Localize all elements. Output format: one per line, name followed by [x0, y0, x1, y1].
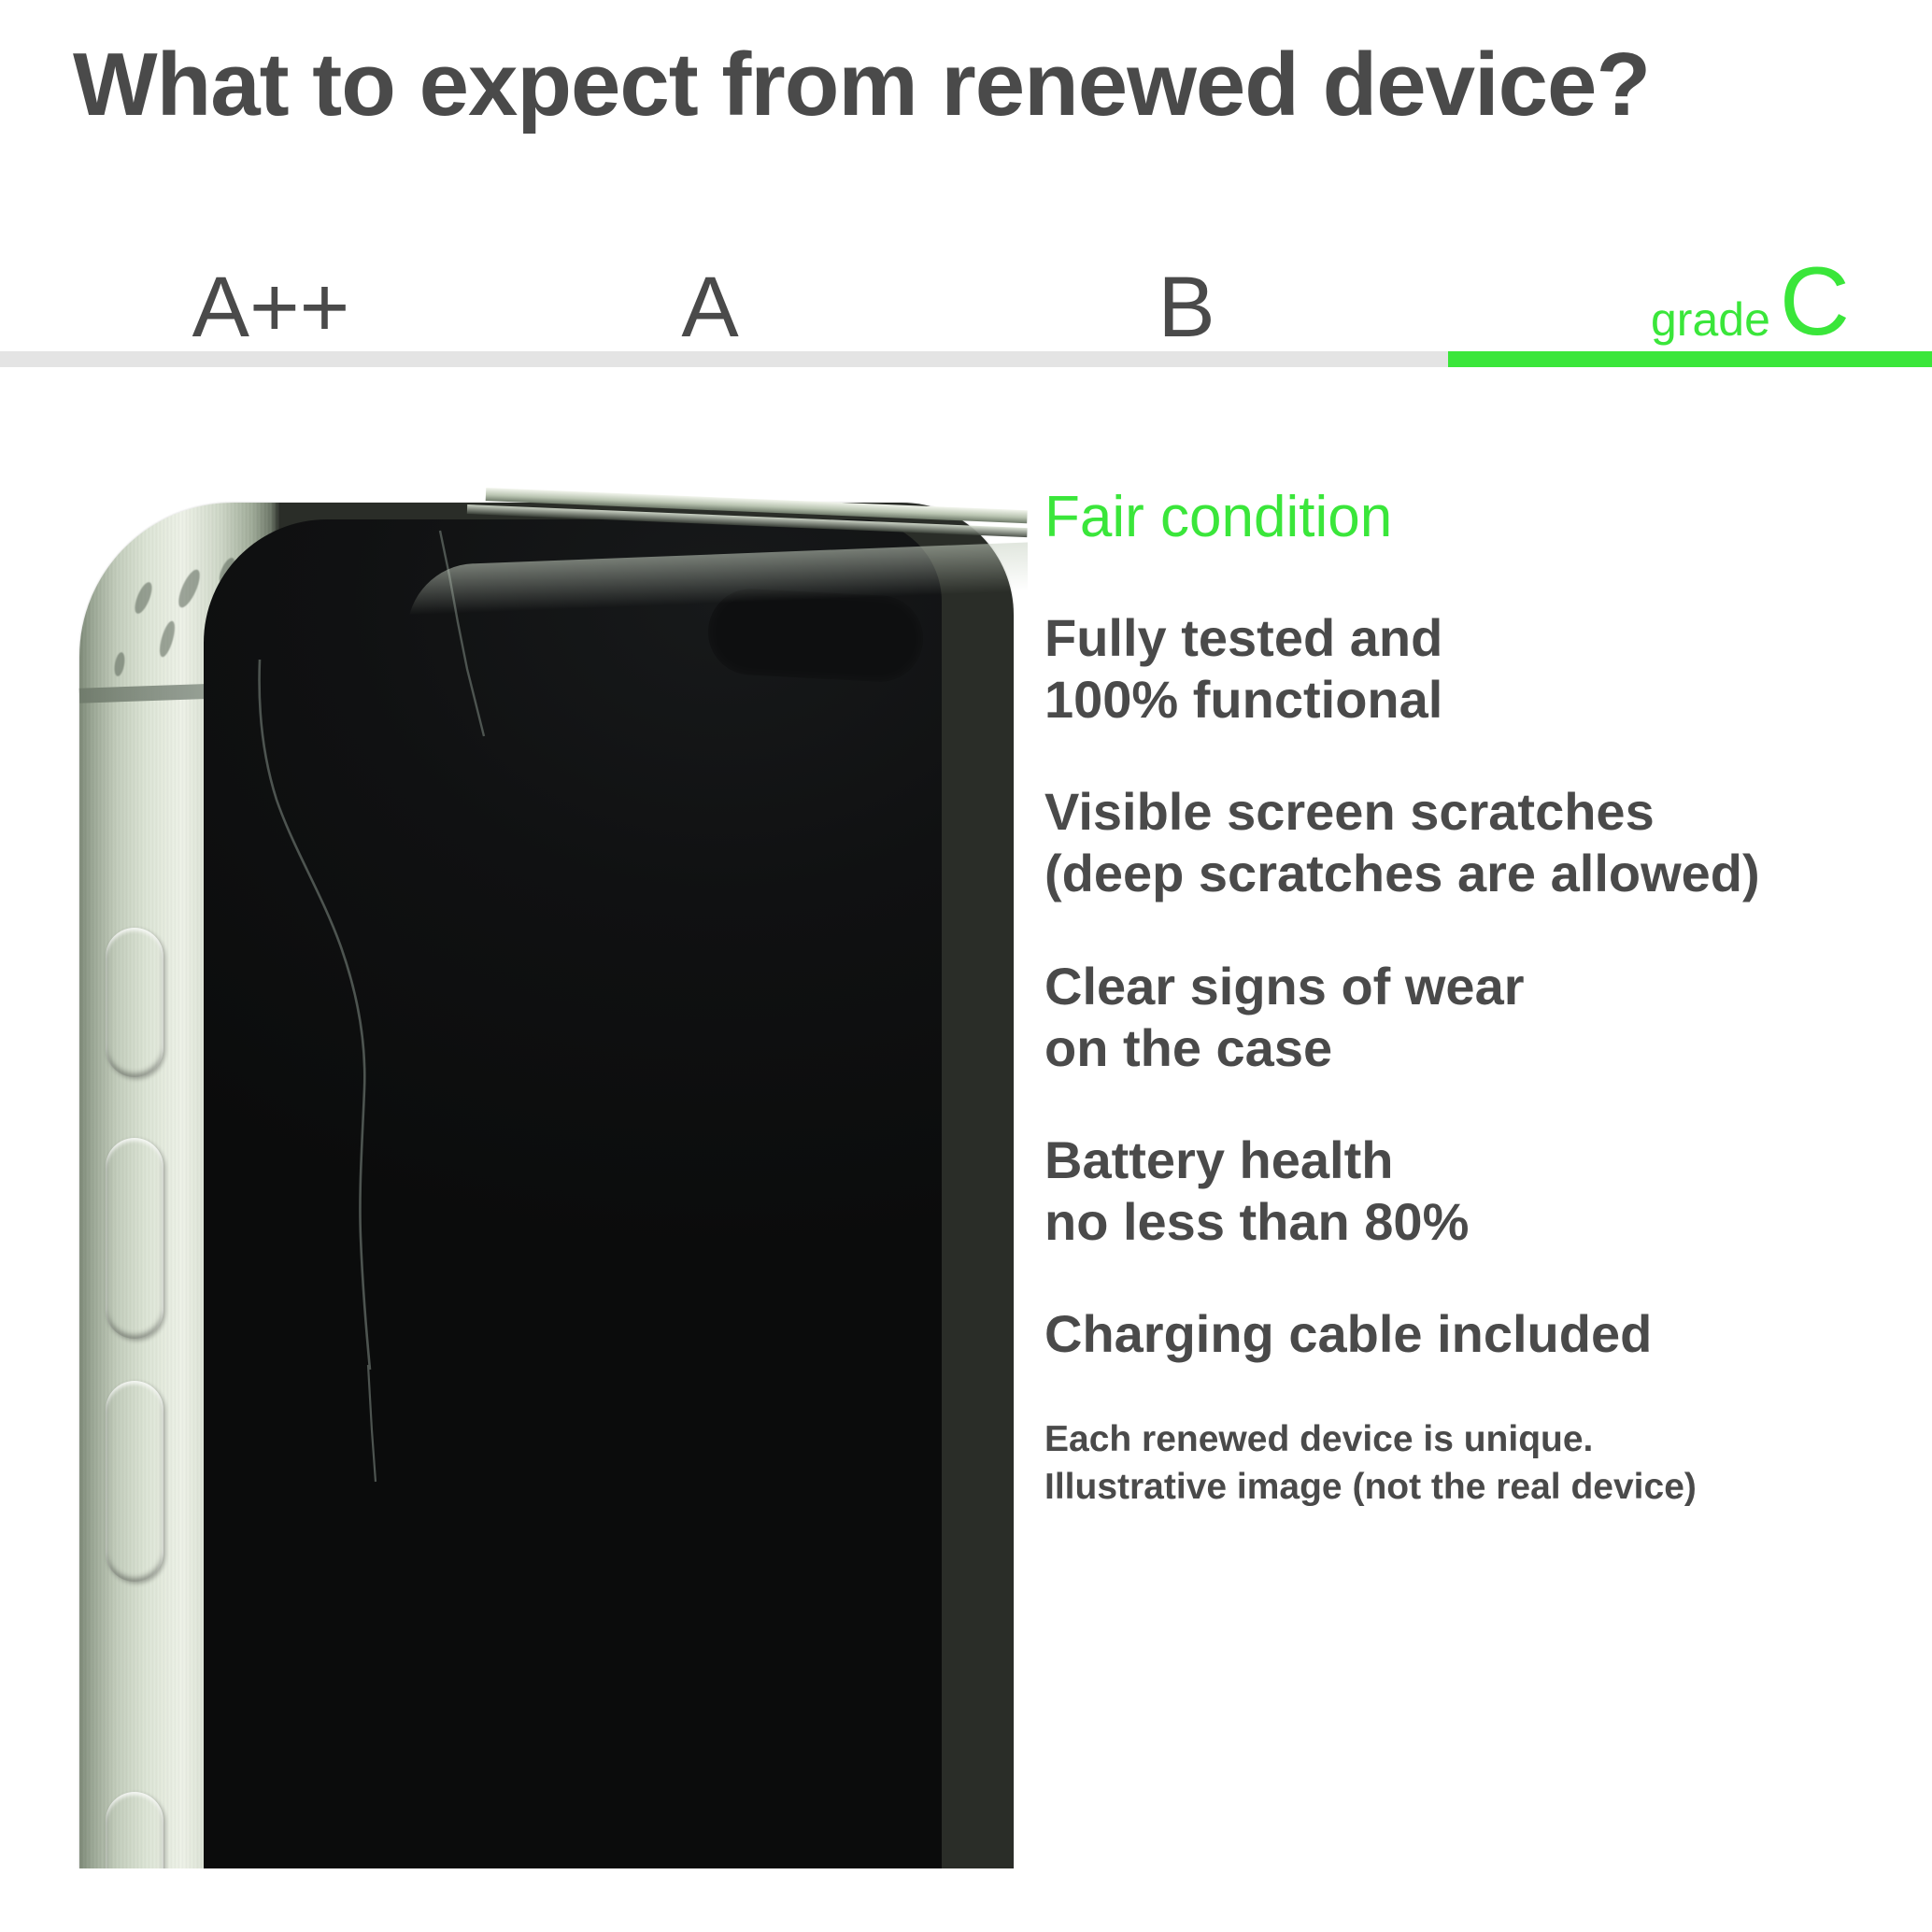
phone-screen: [204, 519, 942, 1868]
power-button[interactable]: [106, 1792, 163, 1868]
page-title: What to expect from renewed device?: [73, 34, 1650, 136]
volume-down-button[interactable]: [106, 1381, 163, 1582]
device-illustration: [0, 467, 1028, 1868]
feature-item: Clear signs of wear on the case: [1044, 956, 1913, 1079]
disclaimer-text: Each renewed device is unique. Illustrat…: [1044, 1415, 1913, 1512]
tab-underline-active: [1448, 351, 1932, 367]
tab-grade-b-label: B: [1158, 264, 1215, 350]
feature-item: Visible screen scratches (deep scratches…: [1044, 781, 1913, 904]
feature-item: Charging cable included: [1044, 1303, 1913, 1365]
tab-grade-a[interactable]: A: [495, 224, 925, 350]
tab-grade-a-label: A: [681, 264, 738, 350]
feature-item: Fully tested and 100% functional: [1044, 607, 1913, 731]
tab-grade-c-label: C: [1780, 253, 1850, 350]
condition-info-panel: Fair condition Fully tested and 100% fun…: [1044, 486, 1913, 1512]
grade-tab-bar: A++ A B grade C: [0, 224, 1932, 366]
tab-grade-c-prefix: grade: [1651, 296, 1770, 343]
feature-item: Battery health no less than 80%: [1044, 1129, 1913, 1253]
screen-scratches: [204, 519, 942, 1868]
tab-grade-a-plus-plus[interactable]: A++: [56, 224, 486, 350]
tab-underline-inactive: [0, 351, 1448, 367]
tab-grade-b[interactable]: B: [972, 224, 1401, 350]
tab-grade-c[interactable]: grade C: [1420, 224, 1906, 350]
tab-grade-a-plus-plus-label: A++: [192, 264, 350, 350]
action-button[interactable]: [106, 928, 163, 1077]
volume-up-button[interactable]: [106, 1138, 163, 1339]
condition-heading: Fair condition: [1044, 486, 1913, 549]
